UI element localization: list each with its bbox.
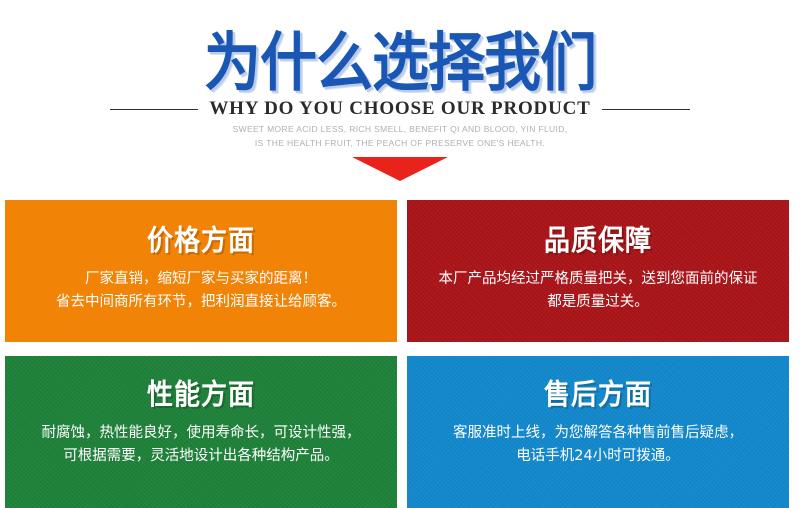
down-arrow-icon — [352, 157, 448, 181]
card-content: 价格方面 厂家直销，缩短厂家与买家的距离！ 省去中间商所有环节，把利润直接让给顾… — [5, 200, 397, 314]
feature-card-price: 价格方面 厂家直销，缩短厂家与买家的距离！ 省去中间商所有环节，把利润直接让给顾… — [5, 200, 397, 342]
promo-banner: 为什么选择我们 WHY DO YOU CHOOSE OUR PRODUCT SW… — [0, 0, 800, 508]
card-body-line-1: 耐腐蚀，热性能良好，使用寿命长，可设计性强， — [15, 422, 387, 445]
card-title: 品质保障 — [407, 225, 789, 258]
card-body-line-1: 客服准时上线，为您解答各种售前售后疑虑， — [417, 422, 779, 445]
tagline-line-2: IS THE HEALTH FRUIT, THE PEACH OF PRESER… — [0, 136, 800, 150]
banner-header: 为什么选择我们 WHY DO YOU CHOOSE OUR PRODUCT SW… — [0, 0, 800, 190]
feature-card-performance: 性能方面 耐腐蚀，热性能良好，使用寿命长，可设计性强， 可根据需要，灵活地设计出… — [5, 356, 397, 508]
divider-rule-left — [110, 109, 198, 110]
card-body: 客服准时上线，为您解答各种售前售后疑虑， 电话手机24小时可拨通。 — [407, 422, 789, 468]
card-body-line-2: 省去中间商所有环节，把利润直接让给顾客。 — [15, 291, 387, 314]
card-body-line-2: 都是质量过关。 — [417, 291, 779, 314]
divider-rule-right — [602, 109, 690, 110]
card-body-line-2: 电话手机24小时可拨通。 — [417, 445, 779, 468]
card-title: 售后方面 — [407, 379, 789, 412]
card-body: 本厂产品均经过严格质量把关，送到您面前的保证 都是质量过关。 — [407, 268, 789, 314]
feature-card-quality: 品质保障 本厂产品均经过严格质量把关，送到您面前的保证 都是质量过关。 — [407, 200, 789, 342]
card-content: 售后方面 客服准时上线，为您解答各种售前售后疑虑， 电话手机24小时可拨通。 — [407, 356, 789, 468]
card-title: 价格方面 — [5, 225, 397, 258]
english-subtitle: WHY DO YOU CHOOSE OUR PRODUCT — [209, 98, 590, 120]
card-body: 厂家直销，缩短厂家与买家的距离！ 省去中间商所有环节，把利润直接让给顾客。 — [5, 268, 397, 314]
page-title: 为什么选择我们 — [0, 29, 800, 96]
tagline: SWEET MORE ACID LESS, RICH SMELL, BENEFI… — [0, 122, 800, 150]
card-body-line-1: 厂家直销，缩短厂家与买家的距离！ — [15, 268, 387, 291]
card-content: 性能方面 耐腐蚀，热性能良好，使用寿命长，可设计性强， 可根据需要，灵活地设计出… — [5, 356, 397, 468]
card-body-line-1: 本厂产品均经过严格质量把关，送到您面前的保证 — [417, 268, 779, 291]
card-body: 耐腐蚀，热性能良好，使用寿命长，可设计性强， 可根据需要，灵活地设计出各种结构产… — [5, 422, 397, 468]
card-title: 性能方面 — [5, 379, 397, 412]
feature-card-after-sales: 售后方面 客服准时上线，为您解答各种售前售后疑虑， 电话手机24小时可拨通。 — [407, 356, 789, 508]
card-content: 品质保障 本厂产品均经过严格质量把关，送到您面前的保证 都是质量过关。 — [407, 200, 789, 314]
card-body-line-2: 可根据需要，灵活地设计出各种结构产品。 — [15, 445, 387, 468]
english-subtitle-row: WHY DO YOU CHOOSE OUR PRODUCT — [0, 98, 800, 120]
tagline-line-1: SWEET MORE ACID LESS, RICH SMELL, BENEFI… — [0, 122, 800, 136]
feature-card-grid: 价格方面 厂家直销，缩短厂家与买家的距离！ 省去中间商所有环节，把利润直接让给顾… — [5, 200, 789, 508]
